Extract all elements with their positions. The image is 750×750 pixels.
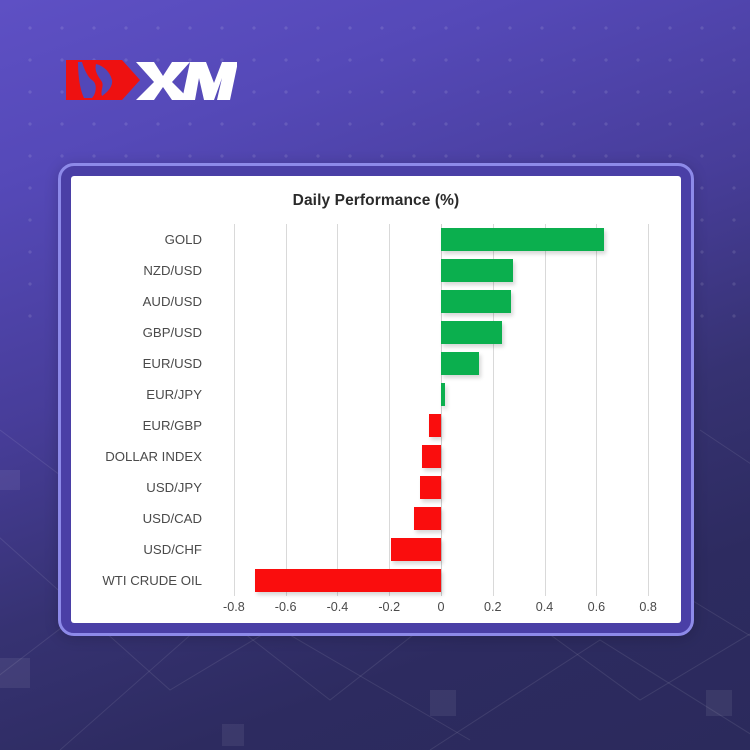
y-axis-label: EUR/GBP xyxy=(71,419,202,433)
chart-card: Daily Performance (%) GOLDNZD/USDAUD/USD… xyxy=(58,163,694,636)
bar-row xyxy=(208,228,674,251)
bar-row xyxy=(208,383,674,406)
x-axis-tick-label: -0.6 xyxy=(275,600,297,614)
y-axis-label: EUR/JPY xyxy=(71,388,202,402)
bar-eur-gbp[interactable] xyxy=(429,414,441,437)
x-axis-tick-label: 0.4 xyxy=(536,600,554,614)
x-axis-tick-label: -0.8 xyxy=(223,600,245,614)
bar-nzd-usd[interactable] xyxy=(441,259,513,282)
bar-eur-jpy[interactable] xyxy=(441,383,445,406)
x-axis-tick-label: 0.2 xyxy=(484,600,502,614)
bar-wti-crude-oil[interactable] xyxy=(255,569,441,592)
chart-plot-container: Daily Performance (%) GOLDNZD/USDAUD/USD… xyxy=(71,176,681,623)
y-axis-label: NZD/USD xyxy=(71,264,202,278)
bar-row xyxy=(208,445,674,468)
y-axis-label: AUD/USD xyxy=(71,295,202,309)
y-axis-label: EUR/USD xyxy=(71,357,202,371)
x-axis-tick-label: -0.4 xyxy=(327,600,349,614)
y-axis-label: DOLLAR INDEX xyxy=(71,450,202,464)
bar-row xyxy=(208,352,674,375)
bar-row xyxy=(208,414,674,437)
bar-aud-usd[interactable] xyxy=(441,290,511,313)
plot-area xyxy=(208,224,674,596)
page-root: Daily Performance (%) GOLDNZD/USDAUD/USD… xyxy=(0,0,750,750)
bar-usd-cad[interactable] xyxy=(414,507,441,530)
bar-usd-chf[interactable] xyxy=(391,538,441,561)
bar-dollar-index[interactable] xyxy=(422,445,441,468)
y-axis-label: USD/JPY xyxy=(71,481,202,495)
bar-gold[interactable] xyxy=(441,228,604,251)
bar-row xyxy=(208,538,674,561)
bar-row xyxy=(208,259,674,282)
y-axis-label: GOLD xyxy=(71,233,202,247)
x-axis-tick-label: 0.6 xyxy=(588,600,606,614)
bar-row xyxy=(208,569,674,592)
bar-row xyxy=(208,476,674,499)
bar-eur-usd[interactable] xyxy=(441,352,479,375)
y-axis-label: USD/CAD xyxy=(71,512,202,526)
y-axis-label: USD/CHF xyxy=(71,543,202,557)
y-axis-label: GBP/USD xyxy=(71,326,202,340)
y-axis-labels: GOLDNZD/USDAUD/USDGBP/USDEUR/USDEUR/JPYE… xyxy=(71,224,202,596)
y-axis-label: WTI CRUDE OIL xyxy=(71,574,202,588)
x-axis-labels: -0.8-0.6-0.4-0.200.20.40.60.8 xyxy=(208,600,674,622)
x-axis-tick-label: -0.2 xyxy=(378,600,400,614)
xm-wordmark xyxy=(136,62,237,100)
bar-row xyxy=(208,321,674,344)
bar-usd-jpy[interactable] xyxy=(420,476,441,499)
chart-title: Daily Performance (%) xyxy=(71,192,681,210)
bar-row xyxy=(208,507,674,530)
bar-gbp-usd[interactable] xyxy=(441,321,502,344)
x-axis-tick-label: 0.8 xyxy=(639,600,657,614)
xm-logo xyxy=(62,50,237,110)
x-axis-tick-label: 0 xyxy=(437,600,444,614)
xm-bull-mark-icon xyxy=(66,60,140,100)
bar-row xyxy=(208,290,674,313)
